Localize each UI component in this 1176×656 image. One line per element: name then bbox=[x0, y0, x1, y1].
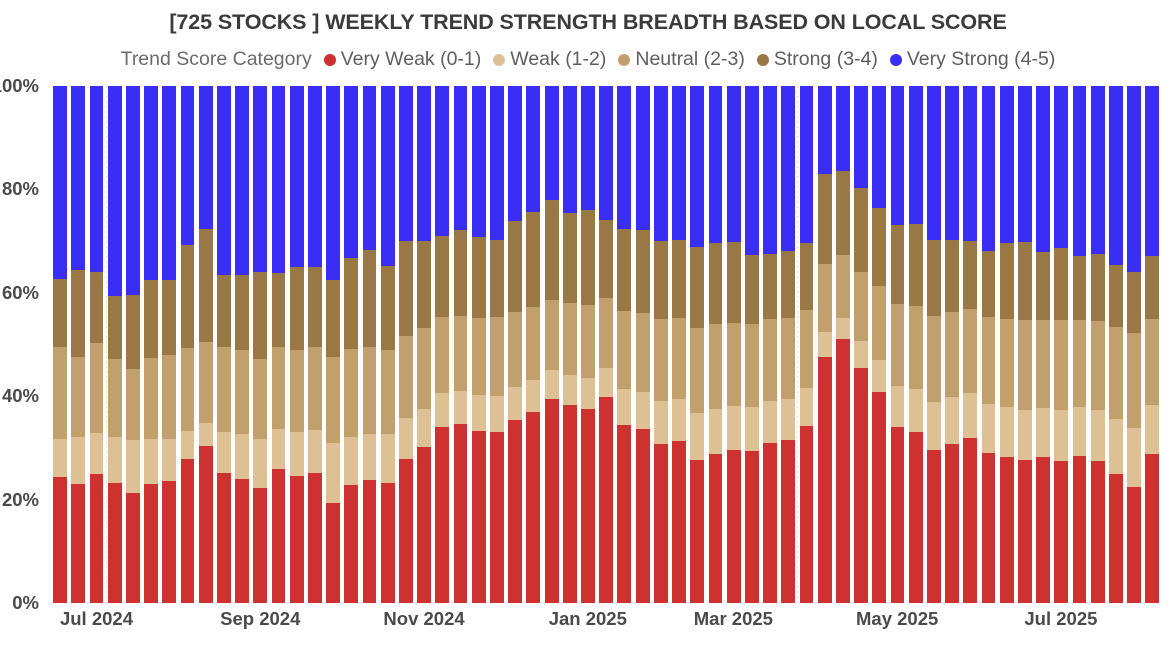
bar-segment bbox=[1000, 86, 1014, 243]
bar-segment bbox=[763, 254, 777, 319]
bar-column[interactable] bbox=[761, 86, 779, 603]
bar-segment bbox=[891, 304, 905, 386]
bar-column[interactable] bbox=[124, 86, 142, 603]
bar-column[interactable] bbox=[670, 86, 688, 603]
bar-segment bbox=[1145, 405, 1159, 453]
chart-legend: Trend Score Category Very Weak (0-1)Weak… bbox=[0, 48, 1176, 71]
bar-segment bbox=[472, 318, 486, 396]
bar-column[interactable] bbox=[907, 86, 925, 603]
bar-segment bbox=[454, 86, 468, 230]
bar-segment bbox=[71, 437, 85, 485]
bar-segment bbox=[709, 243, 723, 324]
legend-dot-icon bbox=[618, 54, 630, 66]
bar-stack bbox=[326, 86, 340, 603]
bar-segment bbox=[162, 481, 176, 603]
bar-stack bbox=[1054, 86, 1068, 603]
x-axis-tick-label: May 2025 bbox=[856, 608, 938, 630]
bar-segment bbox=[654, 241, 668, 320]
bar-segment bbox=[1018, 242, 1032, 321]
bar-column[interactable] bbox=[506, 86, 524, 603]
bar-column[interactable] bbox=[397, 86, 415, 603]
bar-segment bbox=[872, 208, 886, 286]
bar-column[interactable] bbox=[1016, 86, 1034, 603]
bar-stack bbox=[727, 86, 741, 603]
bar-segment bbox=[1054, 461, 1068, 603]
bar-segment bbox=[217, 432, 231, 472]
bar-segment bbox=[709, 324, 723, 408]
bar-segment bbox=[891, 427, 905, 603]
x-axis-tick-label: Jan 2025 bbox=[549, 608, 627, 630]
y-axis-tick-label: 80% bbox=[2, 178, 39, 200]
bar-stack bbox=[71, 86, 85, 603]
bar-segment bbox=[927, 316, 941, 403]
legend-title: Trend Score Category bbox=[121, 48, 312, 71]
bar-segment bbox=[1145, 256, 1159, 319]
bar-segment bbox=[1145, 319, 1159, 405]
bar-segment bbox=[818, 86, 832, 174]
bar-column[interactable] bbox=[925, 86, 943, 603]
bar-segment bbox=[1000, 407, 1014, 457]
bar-segment bbox=[344, 349, 358, 437]
chart-container: [725 STOCKS ] WEEKLY TREND STRENGTH BREA… bbox=[0, 0, 1176, 656]
bar-segment bbox=[454, 424, 468, 603]
bar-column[interactable] bbox=[597, 86, 615, 603]
bar-column[interactable] bbox=[579, 86, 597, 603]
bar-column[interactable] bbox=[87, 86, 105, 603]
bar-stack bbox=[1036, 86, 1050, 603]
bar-column[interactable] bbox=[743, 86, 761, 603]
bar-segment bbox=[1054, 86, 1068, 248]
bar-segment bbox=[435, 427, 449, 603]
bar-column[interactable] bbox=[943, 86, 961, 603]
bar-column[interactable] bbox=[542, 86, 560, 603]
bar-segment bbox=[490, 240, 504, 317]
bar-segment bbox=[417, 447, 431, 603]
bar-segment bbox=[199, 423, 213, 446]
bar-segment bbox=[1018, 460, 1032, 603]
y-axis-tick-label: 40% bbox=[2, 385, 39, 407]
bar-segment bbox=[617, 229, 631, 311]
bar-segment bbox=[545, 86, 559, 200]
bar-segment bbox=[963, 86, 977, 241]
bar-column[interactable] bbox=[852, 86, 870, 603]
bar-segment bbox=[235, 86, 249, 275]
bar-column[interactable] bbox=[470, 86, 488, 603]
bar-column[interactable] bbox=[797, 86, 815, 603]
bar-segment bbox=[1109, 419, 1123, 474]
bar-segment bbox=[1073, 86, 1087, 256]
bar-segment bbox=[290, 86, 304, 267]
bar-segment bbox=[1127, 272, 1141, 333]
bar-segment bbox=[672, 86, 686, 240]
bar-segment bbox=[235, 434, 249, 478]
bar-segment bbox=[1018, 410, 1032, 461]
bar-column[interactable] bbox=[706, 86, 724, 603]
bar-segment bbox=[1073, 456, 1087, 603]
bar-segment bbox=[344, 258, 358, 348]
bar-segment bbox=[399, 336, 413, 418]
bar-column[interactable] bbox=[634, 86, 652, 603]
bar-segment bbox=[1145, 454, 1159, 603]
bar-segment bbox=[290, 267, 304, 349]
bar-stack bbox=[709, 86, 723, 603]
bar-stack bbox=[599, 86, 613, 603]
bar-stack bbox=[872, 86, 886, 603]
bar-segment bbox=[1109, 327, 1123, 419]
bar-segment bbox=[945, 312, 959, 397]
y-axis-tick-label: 100% bbox=[0, 75, 39, 97]
bar-stack bbox=[1127, 86, 1141, 603]
bar-segment bbox=[144, 484, 158, 603]
bar-stack bbox=[800, 86, 814, 603]
bar-segment bbox=[545, 300, 559, 370]
bar-segment bbox=[526, 307, 540, 380]
bar-segment bbox=[381, 266, 395, 350]
bar-stack bbox=[818, 86, 832, 603]
bar-column[interactable] bbox=[1034, 86, 1052, 603]
bar-column[interactable] bbox=[1107, 86, 1125, 603]
bar-segment bbox=[344, 437, 358, 486]
bar-stack bbox=[144, 86, 158, 603]
bar-column[interactable] bbox=[215, 86, 233, 603]
bar-segment bbox=[381, 483, 395, 603]
bar-column[interactable] bbox=[233, 86, 251, 603]
bar-column[interactable] bbox=[998, 86, 1016, 603]
bar-segment bbox=[308, 267, 322, 346]
x-axis-tick-label: Mar 2025 bbox=[694, 608, 773, 630]
bar-segment bbox=[90, 433, 104, 474]
bar-column[interactable] bbox=[451, 86, 469, 603]
bar-segment bbox=[1036, 252, 1050, 319]
bar-column[interactable] bbox=[979, 86, 997, 603]
bar-column[interactable] bbox=[1143, 86, 1161, 603]
bar-segment bbox=[108, 483, 122, 603]
bar-segment bbox=[144, 86, 158, 280]
bar-segment bbox=[126, 295, 140, 369]
bar-segment bbox=[508, 86, 522, 221]
bar-column[interactable] bbox=[251, 86, 269, 603]
bar-segment bbox=[1036, 86, 1050, 252]
bar-column[interactable] bbox=[415, 86, 433, 603]
bar-column[interactable] bbox=[51, 86, 69, 603]
bar-segment bbox=[927, 240, 941, 315]
bar-column[interactable] bbox=[342, 86, 360, 603]
bar-segment bbox=[1054, 410, 1068, 461]
bar-column[interactable] bbox=[688, 86, 706, 603]
bar-segment bbox=[490, 86, 504, 240]
bar-column[interactable] bbox=[1052, 86, 1070, 603]
bar-segment bbox=[581, 305, 595, 378]
bar-segment bbox=[308, 473, 322, 603]
bar-stack bbox=[472, 86, 486, 603]
bar-segment bbox=[945, 444, 959, 603]
bar-stack bbox=[1109, 86, 1123, 603]
bar-column[interactable] bbox=[725, 86, 743, 603]
bar-segment bbox=[472, 237, 486, 317]
bar-column[interactable] bbox=[106, 86, 124, 603]
bar-column[interactable] bbox=[197, 86, 215, 603]
x-axis-tick-label: Jul 2024 bbox=[60, 608, 133, 630]
bar-segment bbox=[745, 407, 759, 451]
bar-column[interactable] bbox=[615, 86, 633, 603]
bar-segment bbox=[909, 389, 923, 432]
bar-segment bbox=[636, 86, 650, 230]
bar-segment bbox=[454, 391, 468, 424]
bar-segment bbox=[53, 86, 67, 279]
bar-segment bbox=[508, 420, 522, 603]
bar-segment bbox=[162, 355, 176, 439]
bar-stack bbox=[1145, 86, 1159, 603]
bar-segment bbox=[490, 396, 504, 432]
bar-segment bbox=[144, 439, 158, 484]
legend-item[interactable]: Neutral (2-3) bbox=[618, 48, 744, 71]
bar-segment bbox=[1073, 320, 1087, 407]
bar-stack bbox=[636, 86, 650, 603]
bar-segment bbox=[599, 368, 613, 397]
bar-segment bbox=[854, 272, 868, 341]
bar-column[interactable] bbox=[961, 86, 979, 603]
bar-stack bbox=[982, 86, 996, 603]
bar-segment bbox=[690, 413, 704, 460]
bar-stack bbox=[581, 86, 595, 603]
bar-segment bbox=[545, 399, 559, 603]
legend-item-label: Very Strong (4-5) bbox=[907, 48, 1055, 71]
bar-segment bbox=[326, 443, 340, 503]
bar-stack bbox=[399, 86, 413, 603]
bar-segment bbox=[363, 86, 377, 250]
bar-segment bbox=[872, 360, 886, 392]
bar-segment bbox=[490, 432, 504, 603]
bar-stack bbox=[108, 86, 122, 603]
bar-segment bbox=[526, 212, 540, 307]
bar-segment bbox=[526, 380, 540, 412]
bar-stack bbox=[654, 86, 668, 603]
bar-segment bbox=[745, 255, 759, 324]
bar-segment bbox=[563, 213, 577, 303]
bar-stack bbox=[617, 86, 631, 603]
bar-segment bbox=[690, 328, 704, 413]
bar-column[interactable] bbox=[561, 86, 579, 603]
bar-segment bbox=[818, 264, 832, 331]
bar-segment bbox=[563, 86, 577, 213]
bar-segment bbox=[599, 220, 613, 299]
bar-column[interactable] bbox=[160, 86, 178, 603]
bar-column[interactable] bbox=[379, 86, 397, 603]
bar-segment bbox=[108, 359, 122, 436]
bar-segment bbox=[253, 439, 267, 489]
bar-column[interactable] bbox=[1070, 86, 1088, 603]
y-axis-tick-label: 0% bbox=[12, 592, 39, 614]
bar-segment bbox=[1054, 248, 1068, 320]
bar-stack bbox=[909, 86, 923, 603]
bar-segment bbox=[636, 392, 650, 429]
bar-stack bbox=[308, 86, 322, 603]
legend-item[interactable]: Strong (3-4) bbox=[757, 48, 878, 71]
bar-column[interactable] bbox=[488, 86, 506, 603]
bar-segment bbox=[199, 342, 213, 423]
bar-segment bbox=[872, 392, 886, 603]
bar-segment bbox=[454, 316, 468, 391]
bar-segment bbox=[945, 86, 959, 240]
bar-segment bbox=[654, 401, 668, 444]
bar-segment bbox=[53, 439, 67, 478]
bar-segment bbox=[272, 469, 286, 603]
bar-segment bbox=[672, 399, 686, 440]
bar-stack bbox=[454, 86, 468, 603]
bar-segment bbox=[108, 296, 122, 360]
bar-segment bbox=[144, 358, 158, 439]
bar-segment bbox=[763, 319, 777, 401]
bar-segment bbox=[982, 86, 996, 251]
bar-column[interactable] bbox=[1125, 86, 1143, 603]
bar-segment bbox=[818, 357, 832, 603]
bar-column[interactable] bbox=[324, 86, 342, 603]
legend-dot-icon bbox=[757, 54, 769, 66]
y-axis-tick-label: 60% bbox=[2, 282, 39, 304]
bar-segment bbox=[71, 270, 85, 357]
bar-segment bbox=[217, 473, 231, 603]
bar-segment bbox=[727, 406, 741, 450]
bar-segment bbox=[854, 188, 868, 272]
bar-stack bbox=[363, 86, 377, 603]
bar-segment bbox=[1127, 428, 1141, 487]
bar-segment bbox=[181, 86, 195, 245]
bar-segment bbox=[53, 477, 67, 603]
bar-segment bbox=[1018, 86, 1032, 242]
bar-segment bbox=[854, 341, 868, 368]
bar-segment bbox=[963, 393, 977, 437]
bar-segment bbox=[599, 397, 613, 603]
legend-item-label: Strong (3-4) bbox=[774, 48, 878, 71]
bar-segment bbox=[399, 86, 413, 241]
bar-column[interactable] bbox=[834, 86, 852, 603]
bar-segment bbox=[508, 221, 522, 312]
bar-stack bbox=[1073, 86, 1087, 603]
bar-column[interactable] bbox=[433, 86, 451, 603]
bar-segment bbox=[1000, 457, 1014, 603]
bar-stack bbox=[745, 86, 759, 603]
bar-segment bbox=[690, 247, 704, 328]
bar-segment bbox=[800, 86, 814, 243]
bar-segment bbox=[617, 389, 631, 425]
bar-column[interactable] bbox=[288, 86, 306, 603]
bar-segment bbox=[654, 319, 668, 401]
bar-segment bbox=[581, 409, 595, 603]
bar-segment bbox=[800, 310, 814, 389]
bar-segment bbox=[745, 451, 759, 602]
x-axis-tick-label: Sep 2024 bbox=[220, 608, 300, 630]
bar-column[interactable] bbox=[524, 86, 542, 603]
bar-stack bbox=[53, 86, 67, 603]
bar-segment bbox=[672, 441, 686, 603]
bar-stack bbox=[199, 86, 213, 603]
bar-segment bbox=[472, 86, 486, 237]
bar-column[interactable] bbox=[178, 86, 196, 603]
bar-stack bbox=[781, 86, 795, 603]
bar-segment bbox=[727, 242, 741, 324]
bar-segment bbox=[381, 86, 395, 266]
bar-column[interactable] bbox=[142, 86, 160, 603]
bar-stack bbox=[526, 86, 540, 603]
bar-column[interactable] bbox=[652, 86, 670, 603]
bar-segment bbox=[235, 479, 249, 603]
bar-segment bbox=[891, 86, 905, 225]
bar-segment bbox=[599, 86, 613, 220]
bar-segment bbox=[326, 357, 340, 442]
plot-area bbox=[51, 86, 1161, 603]
bar-segment bbox=[363, 480, 377, 603]
bar-segment bbox=[108, 437, 122, 484]
legend-item[interactable]: Very Weak (0-1) bbox=[324, 48, 482, 71]
legend-item[interactable]: Very Strong (4-5) bbox=[890, 48, 1055, 71]
bar-segment bbox=[90, 474, 104, 603]
bar-segment bbox=[836, 255, 850, 318]
bar-segment bbox=[982, 317, 996, 404]
bar-segment bbox=[199, 86, 213, 229]
bar-segment bbox=[927, 402, 941, 450]
bar-segment bbox=[290, 476, 304, 603]
legend-item-label: Weak (1-2) bbox=[510, 48, 606, 71]
bar-column[interactable] bbox=[888, 86, 906, 603]
bar-stack bbox=[545, 86, 559, 603]
bar-column[interactable] bbox=[360, 86, 378, 603]
bar-segment bbox=[781, 318, 795, 399]
bar-segment bbox=[563, 303, 577, 375]
bar-segment bbox=[709, 454, 723, 603]
bar-column[interactable] bbox=[870, 86, 888, 603]
bar-segment bbox=[763, 86, 777, 254]
bar-segment bbox=[399, 418, 413, 459]
bar-segment bbox=[781, 440, 795, 603]
y-axis-tick-label: 20% bbox=[2, 489, 39, 511]
bar-segment bbox=[1145, 86, 1159, 256]
bar-segment bbox=[617, 425, 631, 603]
bar-segment bbox=[181, 459, 195, 603]
bar-stack bbox=[945, 86, 959, 603]
bar-column[interactable] bbox=[306, 86, 324, 603]
bar-segment bbox=[1073, 256, 1087, 321]
bar-stack bbox=[490, 86, 504, 603]
bar-segment bbox=[581, 86, 595, 210]
bar-stack bbox=[253, 86, 267, 603]
bar-column[interactable] bbox=[1089, 86, 1107, 603]
bar-column[interactable] bbox=[69, 86, 87, 603]
bar-segment bbox=[690, 460, 704, 603]
bar-segment bbox=[181, 348, 195, 431]
bar-segment bbox=[526, 86, 540, 212]
bar-column[interactable] bbox=[269, 86, 287, 603]
bar-segment bbox=[945, 397, 959, 444]
bar-segment bbox=[927, 450, 941, 603]
legend-dot-icon bbox=[324, 54, 336, 66]
legend-items: Very Weak (0-1)Weak (1-2)Neutral (2-3)St… bbox=[324, 48, 1056, 71]
bar-column[interactable] bbox=[779, 86, 797, 603]
bar-stack bbox=[690, 86, 704, 603]
bar-segment bbox=[836, 339, 850, 603]
bar-stack bbox=[181, 86, 195, 603]
bar-segment bbox=[290, 350, 304, 433]
bar-stack bbox=[235, 86, 249, 603]
bar-segment bbox=[472, 431, 486, 603]
bar-column[interactable] bbox=[816, 86, 834, 603]
bar-segment bbox=[272, 347, 286, 429]
bar-segment bbox=[126, 86, 140, 295]
bar-segment bbox=[1091, 86, 1105, 254]
legend-item[interactable]: Weak (1-2) bbox=[493, 48, 606, 71]
x-axis: Jul 2024Sep 2024Nov 2024Jan 2025Mar 2025… bbox=[51, 608, 1161, 642]
bar-segment bbox=[854, 86, 868, 188]
bar-stack bbox=[836, 86, 850, 603]
